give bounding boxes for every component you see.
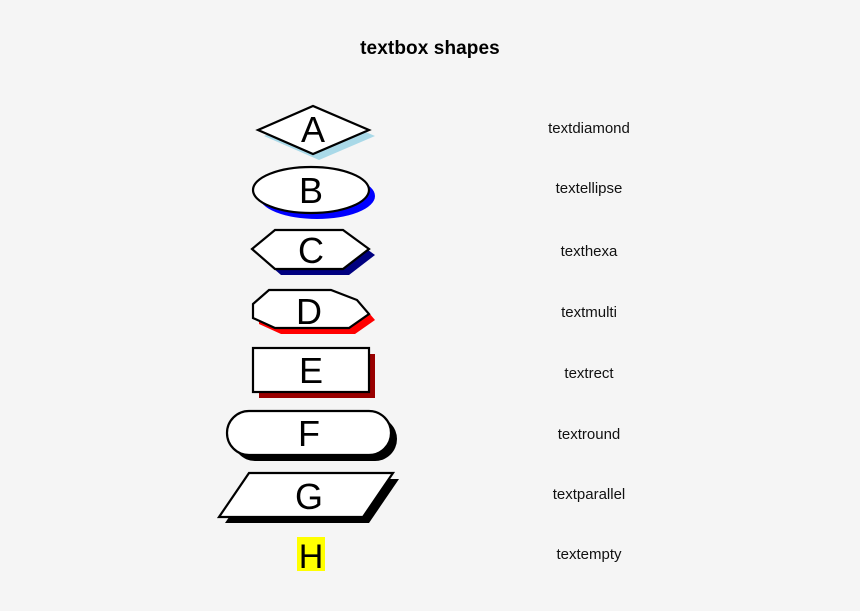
label-textround: textround [489, 426, 689, 443]
shape-letter-e: E [299, 350, 323, 391]
label-textparallel: textparallel [489, 486, 689, 503]
shape-textellipse[interactable]: B [245, 160, 385, 220]
shape-textparallel[interactable]: G [211, 465, 411, 527]
label-textellipse: textellipse [489, 180, 689, 197]
shape-textdiamond[interactable]: A [245, 98, 385, 160]
shape-letter-g: G [295, 476, 323, 517]
shape-letter-a: A [301, 109, 325, 150]
label-texthexa: texthexa [489, 243, 689, 260]
shape-letter-d: D [296, 291, 322, 332]
shape-textempty[interactable]: H [275, 530, 385, 582]
shape-texthexa[interactable]: C [245, 223, 385, 279]
shape-textrect[interactable]: E [245, 342, 385, 400]
label-textrect: textrect [489, 365, 689, 382]
shape-textmulti[interactable]: D [245, 284, 385, 340]
shape-textround[interactable]: F [219, 405, 405, 463]
shape-letter-f: F [298, 413, 320, 454]
label-textdiamond: textdiamond [489, 120, 689, 137]
diagram-canvas: textbox shapes A textdiamond B textellip… [0, 0, 860, 611]
label-textmulti: textmulti [489, 304, 689, 321]
shape-letter-h: H [299, 538, 324, 576]
shape-letter-b: B [299, 170, 323, 211]
label-textempty: textempty [489, 546, 689, 563]
shape-letter-c: C [298, 230, 324, 271]
page-title: textbox shapes [0, 38, 860, 60]
